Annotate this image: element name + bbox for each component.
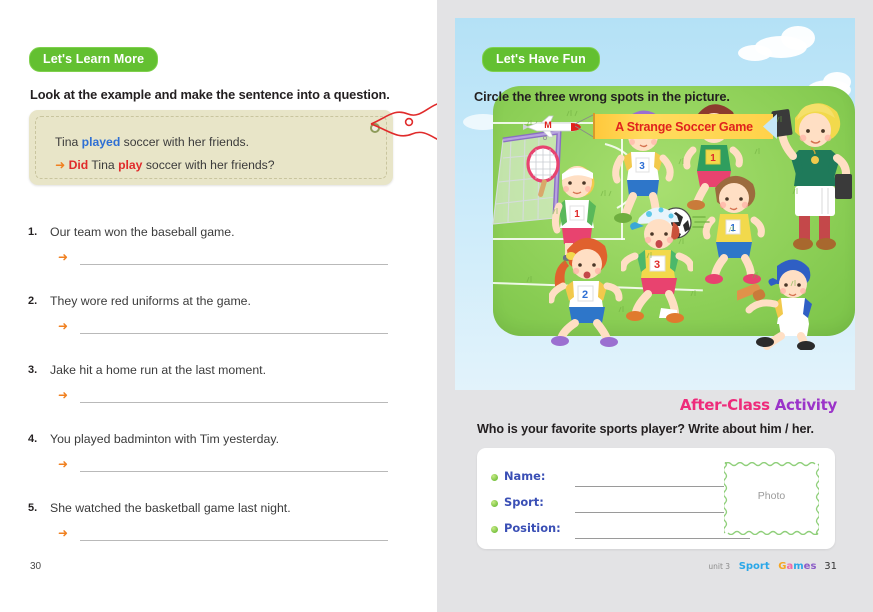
question-text: Jake hit a home run at the last moment. [50,363,266,377]
field-label: Position: [504,521,561,535]
banner-pole [593,113,595,139]
footer-title-sport: Sport [739,561,770,572]
answer-input-line-3[interactable] [80,402,388,403]
page-footer-right: unit 3 Sport Games 31 [708,561,837,572]
example-post: soccer with her friends. [120,135,249,149]
field-label: Name: [504,469,545,483]
field-row-sport[interactable]: Sport: [491,495,751,513]
bullet-dot-icon [491,526,498,533]
bullet-dot-icon [491,500,498,507]
question-number: 2. [28,295,37,307]
photo-placeholder-label: Photo [724,490,819,502]
answer-row[interactable]: ➜ [58,250,398,266]
page-number-left: 30 [30,561,41,572]
answer-input-line-2[interactable] [80,333,388,334]
arrow-right-icon: ➜ [58,526,68,540]
field-input-position[interactable] [575,538,750,539]
question-text: Our team won the baseball game. [50,225,235,239]
left-page: Let's Learn More Look at the example and… [0,0,437,612]
question-number: 5. [28,502,37,514]
arrow-right-icon: ➜ [58,250,68,264]
field-row-position[interactable]: Position: [491,521,751,539]
badge-label: Let's Have Fun [482,47,600,72]
question-text: She watched the basketball game last nig… [50,501,291,515]
question-number: 1. [28,226,37,238]
footer-title-games: Games [778,562,816,572]
right-page: 1 [437,0,873,612]
example-highlight-played: played [82,135,121,149]
arrow-right-icon: ➜ [55,158,65,172]
answer-input-line-4[interactable] [80,471,388,472]
example-tag-box: Tina played soccer with her friends. ➜ D… [29,110,393,185]
question-number: 4. [28,433,37,445]
after-class-card: Name: Sport: Position: Photo [477,448,835,549]
example-highlight-play: play [118,158,142,172]
question-text: They wore red uniforms at the game. [50,294,251,308]
arrow-right-icon: ➜ [58,388,68,402]
footer-m: m [793,561,803,572]
page-number-right: 31 [824,561,837,572]
field-row-name[interactable]: Name: [491,469,751,487]
field-label: Sport: [504,495,544,509]
section-badge-lets-learn-more: Let's Learn More [29,47,158,72]
arrow-right-icon: ➜ [58,457,68,471]
tag-eyelet-icon [370,123,380,133]
example-tail: soccer with her friends? [142,158,274,172]
footer-s: S [739,561,746,572]
airplane-icon: M [521,114,583,140]
banner: A Strange Soccer Game [595,114,773,139]
footer-es: es [804,561,817,572]
right-instruction: Circle the three wrong spots in the pict… [474,89,730,104]
bullet-dot-icon [491,474,498,481]
after-class-title-part1: After-Class [680,396,770,414]
sky-background: 1 [455,18,855,390]
after-class-question: Who is your favorite sports player? Writ… [477,422,814,436]
arrow-right-icon: ➜ [58,319,68,333]
after-class-title-part2: Activity [775,396,837,414]
cloud-icon [781,26,815,50]
answer-input-line-1[interactable] [80,264,388,265]
question-number: 3. [28,364,37,376]
banner-title: A Strange Soccer Game [615,120,753,134]
footer-unit: unit 3 [708,562,730,571]
answer-row[interactable]: ➜ [58,388,398,404]
example-mid: Tina [88,158,118,172]
badge-label: Let's Learn More [29,47,158,72]
example-sentence: Tina played soccer with her friends. [55,135,249,149]
left-instruction: Look at the example and make the sentenc… [30,87,390,102]
after-class-title: After-Class Activity [680,396,837,414]
cloud-icon [738,45,772,61]
answer-row[interactable]: ➜ [58,457,398,473]
example-highlight-did: Did [69,158,89,172]
textbook-spread: Let's Learn More Look at the example and… [0,0,873,612]
example-question: ➜ Did Tina play soccer with her friends? [55,158,275,172]
question-text: You played badminton with Tim yesterday. [50,432,279,446]
section-badge-lets-have-fun: Let's Have Fun [482,47,600,72]
photo-placeholder-box[interactable]: Photo [724,462,819,535]
airplane-banner-group: M A Strange Soccer Game [521,112,776,146]
answer-row[interactable]: ➜ [58,526,398,542]
footer-port: port [746,561,770,572]
answer-input-line-5[interactable] [80,540,388,541]
svg-text:M: M [544,120,552,130]
example-pre: Tina [55,135,82,149]
answer-row[interactable]: ➜ [58,319,398,335]
